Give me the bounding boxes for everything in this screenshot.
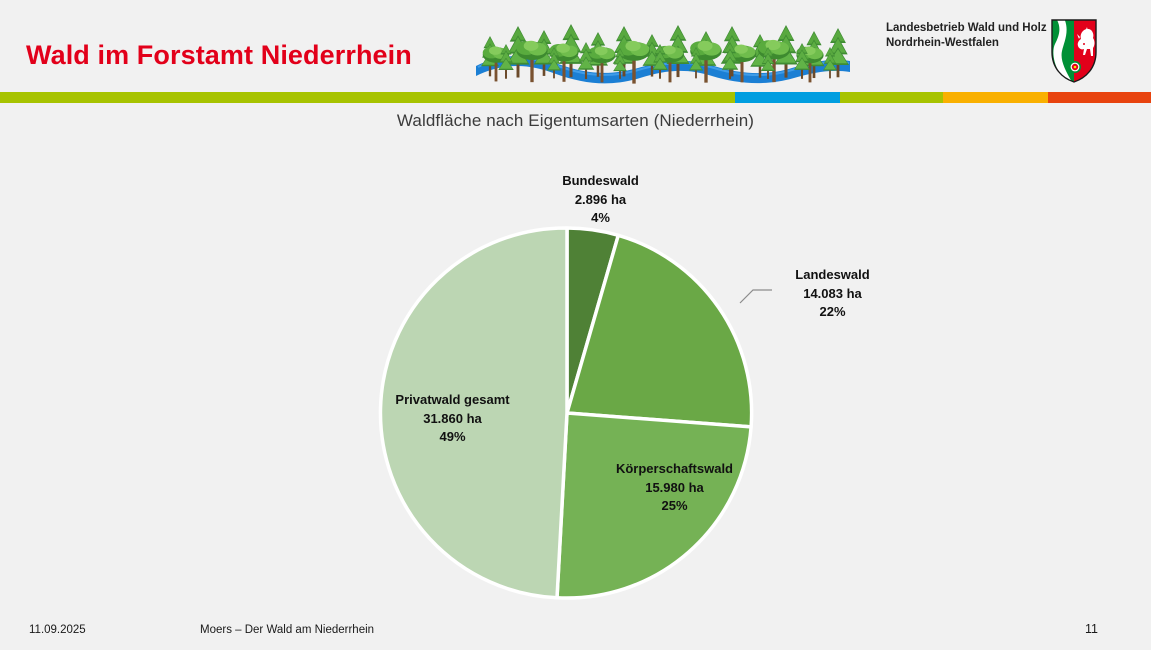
color-bar-segment-red-orange xyxy=(1048,92,1151,103)
color-bar-segment-blue xyxy=(735,92,840,103)
color-bar-segment-green-long xyxy=(0,92,735,103)
pie-label-koerperschaftswald-percent: 25% xyxy=(587,497,762,516)
pie-label-koerperschaftswald: Körperschaftswald 15.980 ha 25% xyxy=(587,460,762,516)
pie-label-landeswald-name: Landeswald xyxy=(745,266,920,285)
pie-label-koerperschaftswald-name: Körperschaftswald xyxy=(587,460,762,479)
slide-footer: 11.09.2025 Moers – Der Wald am Niederrhe… xyxy=(0,616,1151,650)
pie-label-landeswald-value: 14.083 ha xyxy=(745,285,920,304)
pie-label-privatwald-percent: 49% xyxy=(365,428,540,447)
organization-name: Landesbetrieb Wald und Holz Nordrhein-We… xyxy=(886,21,1047,50)
footer-subject: Moers – Der Wald am Niederrhein xyxy=(200,624,374,636)
forest-with-river-illustration xyxy=(474,14,852,90)
page-title: Wald im Forstamt Niederrhein xyxy=(26,40,412,71)
chart-title: Waldfläche nach Eigentumsarten (Niederrh… xyxy=(0,111,1151,131)
pie-label-privatwald-value: 31.860 ha xyxy=(365,410,540,429)
pie-label-landeswald: Landeswald 14.083 ha 22% xyxy=(745,266,920,322)
pie-label-koerperschaftswald-value: 15.980 ha xyxy=(587,479,762,498)
color-bar-segment-green-short xyxy=(840,92,943,103)
pie-label-privatwald-name: Privatwald gesamt xyxy=(365,391,540,410)
organization-line-1: Landesbetrieb Wald und Holz xyxy=(886,22,1047,34)
footer-page-number: 11 xyxy=(1085,622,1098,636)
brand-color-bar xyxy=(0,92,1151,103)
footer-date: 11.09.2025 xyxy=(29,624,86,636)
pie-label-privatwald: Privatwald gesamt 31.860 ha 49% xyxy=(365,391,540,447)
slide-header: Wald im Forstamt Niederrhein xyxy=(0,0,1151,92)
presentation-slide: Wald im Forstamt Niederrhein xyxy=(0,0,1151,650)
pie-label-landeswald-percent: 22% xyxy=(745,303,920,322)
pie-label-bundeswald-percent: 4% xyxy=(513,209,688,228)
pie-label-bundeswald-value: 2.896 ha xyxy=(513,191,688,210)
color-bar-segment-yellow xyxy=(943,92,1048,103)
nrw-coat-of-arms-icon xyxy=(1050,18,1098,84)
organization-line-2: Nordrhein-Westfalen xyxy=(886,36,1047,51)
pie-label-bundeswald: Bundeswald 2.896 ha 4% xyxy=(513,172,688,228)
pie-label-bundeswald-name: Bundeswald xyxy=(513,172,688,191)
